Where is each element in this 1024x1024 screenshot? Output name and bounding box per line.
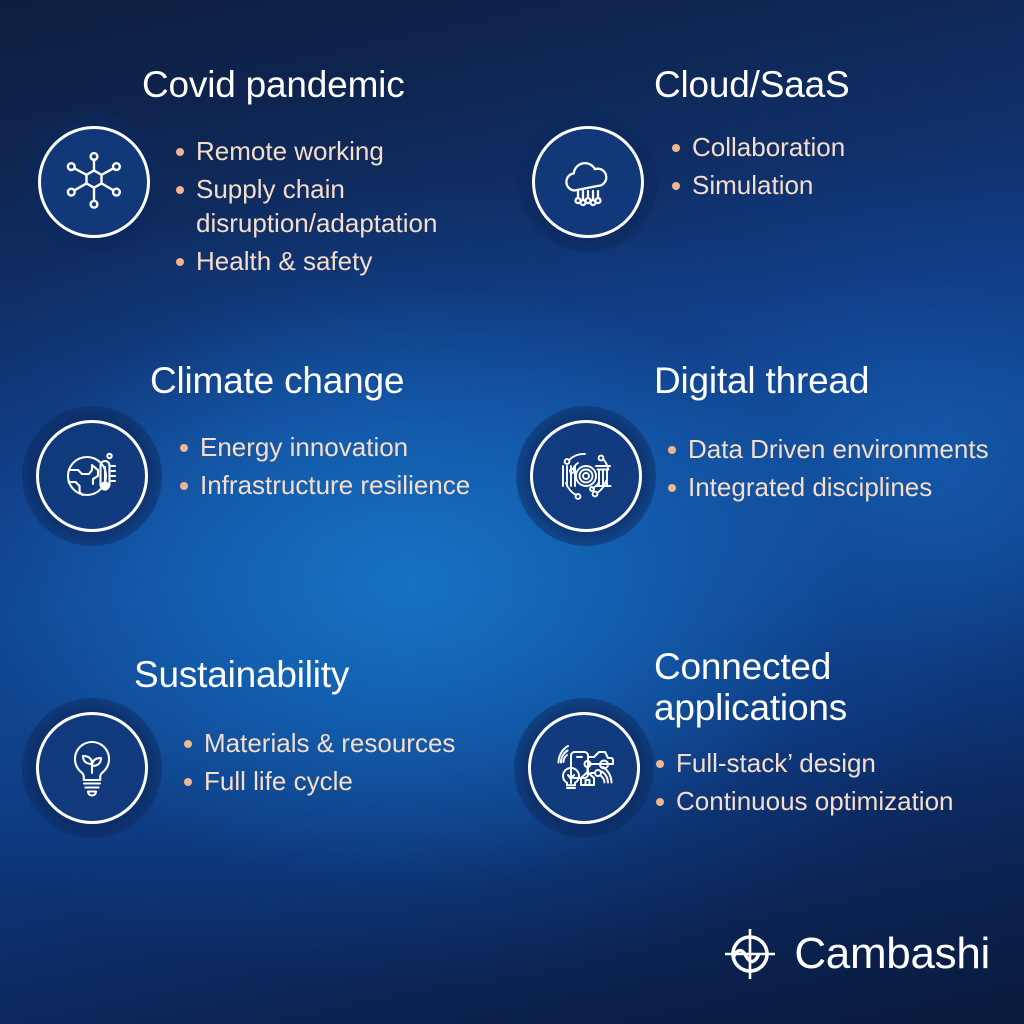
- icon-ring: [528, 712, 640, 824]
- icon-covid: [24, 112, 164, 252]
- block-bullets: Materials & resources Full life cycle: [182, 726, 542, 801]
- list-item: Data Driven environments: [666, 432, 1024, 467]
- lightbulb-leaf-icon: [57, 733, 127, 803]
- infographic-poster: Covid pandemic Remote working Supply cha…: [0, 0, 1024, 1024]
- smart-home-connected-icon: [547, 731, 621, 805]
- block-heading: Cloud/SaaS: [654, 64, 1024, 105]
- block-heading: Climate change: [150, 360, 570, 401]
- block-heading: Digital thread: [654, 360, 1024, 401]
- cambashi-logo: Cambashi: [722, 926, 990, 982]
- list-item: Infrastructure resilience: [178, 468, 538, 503]
- list-item: Supply chain disruption/adaptation: [174, 172, 554, 241]
- block-heading: Sustainability: [134, 654, 554, 695]
- block-bullets: Remote working Supply chain disruption/a…: [174, 134, 554, 281]
- icon-digital-thread: [516, 406, 656, 546]
- block-bullets: Energy innovation Infrastructure resilie…: [178, 430, 538, 505]
- list-item: Collaboration: [670, 130, 1024, 165]
- cambashi-wordmark: Cambashi: [794, 929, 990, 979]
- block-heading: Covid pandemic: [142, 64, 562, 105]
- list-item: Energy innovation: [178, 430, 538, 465]
- icon-climate-change: [22, 406, 162, 546]
- block-bullets: Data Driven environments Integrated disc…: [666, 432, 1024, 507]
- icon-ring: [532, 126, 644, 238]
- icon-ring: [36, 420, 148, 532]
- globe-thermometer-icon: [55, 439, 129, 513]
- block-heading: Connected applications: [654, 646, 934, 729]
- icon-connected-applications: [514, 698, 654, 838]
- icon-ring: [530, 420, 642, 532]
- cambashi-target-wave-icon: [722, 926, 778, 982]
- list-item: Full life cycle: [182, 764, 542, 799]
- list-item: Remote working: [174, 134, 554, 169]
- virus-icon: [57, 145, 131, 219]
- list-item: Full-stack’ design: [654, 746, 1024, 781]
- icon-cloud-saas: [518, 112, 658, 252]
- icon-sustainability: [22, 698, 162, 838]
- list-item: Simulation: [670, 168, 1024, 203]
- block-bullets: Collaboration Simulation: [670, 130, 1024, 205]
- list-item: Continuous optimization: [654, 784, 1024, 819]
- iot-circuit-icon: [548, 438, 624, 514]
- icon-ring: [36, 712, 148, 824]
- block-bullets: Full-stack’ design Continuous optimizati…: [654, 746, 1024, 821]
- list-item: Materials & resources: [182, 726, 542, 761]
- cloud-network-icon: [551, 145, 625, 219]
- list-item: Health & safety: [174, 244, 554, 279]
- list-item: Integrated disciplines: [666, 470, 1024, 505]
- icon-ring: [38, 126, 150, 238]
